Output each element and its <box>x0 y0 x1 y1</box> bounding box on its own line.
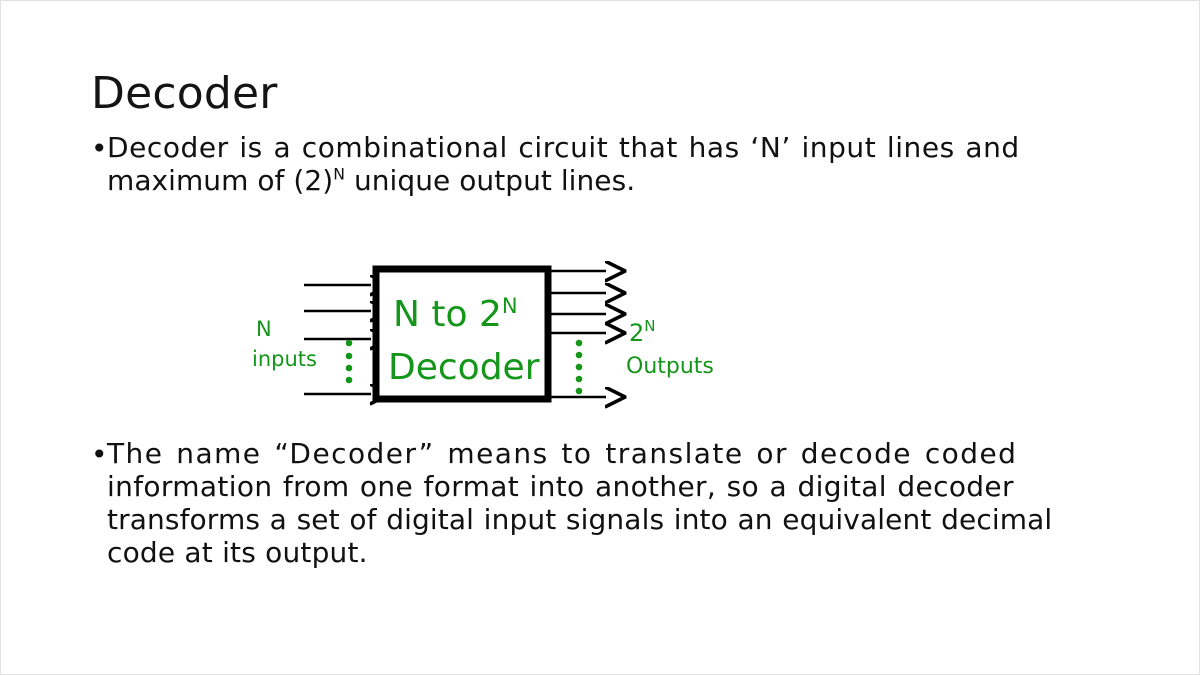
page-title: Decoder <box>91 69 278 118</box>
input-ellipsis-dot <box>346 377 353 384</box>
bullet-marker: • <box>91 437 107 473</box>
output-ellipsis-dot <box>576 388 583 395</box>
box-label-exponent: N <box>502 294 518 318</box>
input-label-line-1: N <box>256 317 272 341</box>
input-arrows <box>304 285 371 394</box>
decoder-diagram-svg: N inputs N to 2N Decoder <box>241 251 761 416</box>
slide-canvas: Decoder • Decoder is a combinational cir… <box>0 0 1200 675</box>
output-label-exponent: N <box>644 317 655 335</box>
bullet-2-line-3: transforms a set of digital input signal… <box>107 503 1052 536</box>
exponent-n: N <box>333 165 345 184</box>
bullet-1-line-1: Decoder is a combinational circuit that … <box>107 131 1020 164</box>
output-ellipsis-dot <box>576 340 583 347</box>
decoder-block-diagram: N inputs N to 2N Decoder <box>241 251 761 416</box>
output-ellipsis-dot <box>576 352 583 359</box>
output-label-line-2: Outputs <box>626 354 714 379</box>
input-ellipsis-dot <box>346 353 353 360</box>
box-label-line-2: Decoder <box>388 347 540 388</box>
bullet-2-line-1: The name “Decoder” means to translate or… <box>107 437 1052 470</box>
input-ellipsis-dot <box>346 365 353 372</box>
bullet-marker: • <box>91 131 107 167</box>
output-ellipsis <box>576 340 583 395</box>
bullet-text-2: The name “Decoder” means to translate or… <box>107 437 1052 569</box>
bullet-1-line-2-pre: maximum of (2) <box>107 164 333 197</box>
output-ellipsis-dot <box>576 376 583 383</box>
output-label-pre: 2 <box>629 319 644 347</box>
box-label-pre: N to 2 <box>393 294 502 335</box>
output-label-line-1: 2N <box>629 317 656 347</box>
bullet-text-1: Decoder is a combinational circuit that … <box>107 131 1020 197</box>
bullet-item-1: • Decoder is a combinational circuit tha… <box>91 131 1131 197</box>
bullet-2-line-4: code at its output. <box>107 536 1052 569</box>
box-label-line-1: N to 2N <box>393 294 518 335</box>
bullet-item-2: • The name “Decoder” means to translate … <box>91 437 1141 569</box>
input-ellipsis-dot <box>346 340 353 347</box>
input-ellipsis <box>346 340 353 384</box>
bullet-2-line-2: information from one format into another… <box>107 470 1052 503</box>
output-ellipsis-dot <box>576 364 583 371</box>
bullet-1-line-2-post: unique output lines. <box>345 164 635 197</box>
bullet-1-line-2: maximum of (2)N unique output lines. <box>107 164 1020 197</box>
input-label-line-2: inputs <box>252 347 317 371</box>
